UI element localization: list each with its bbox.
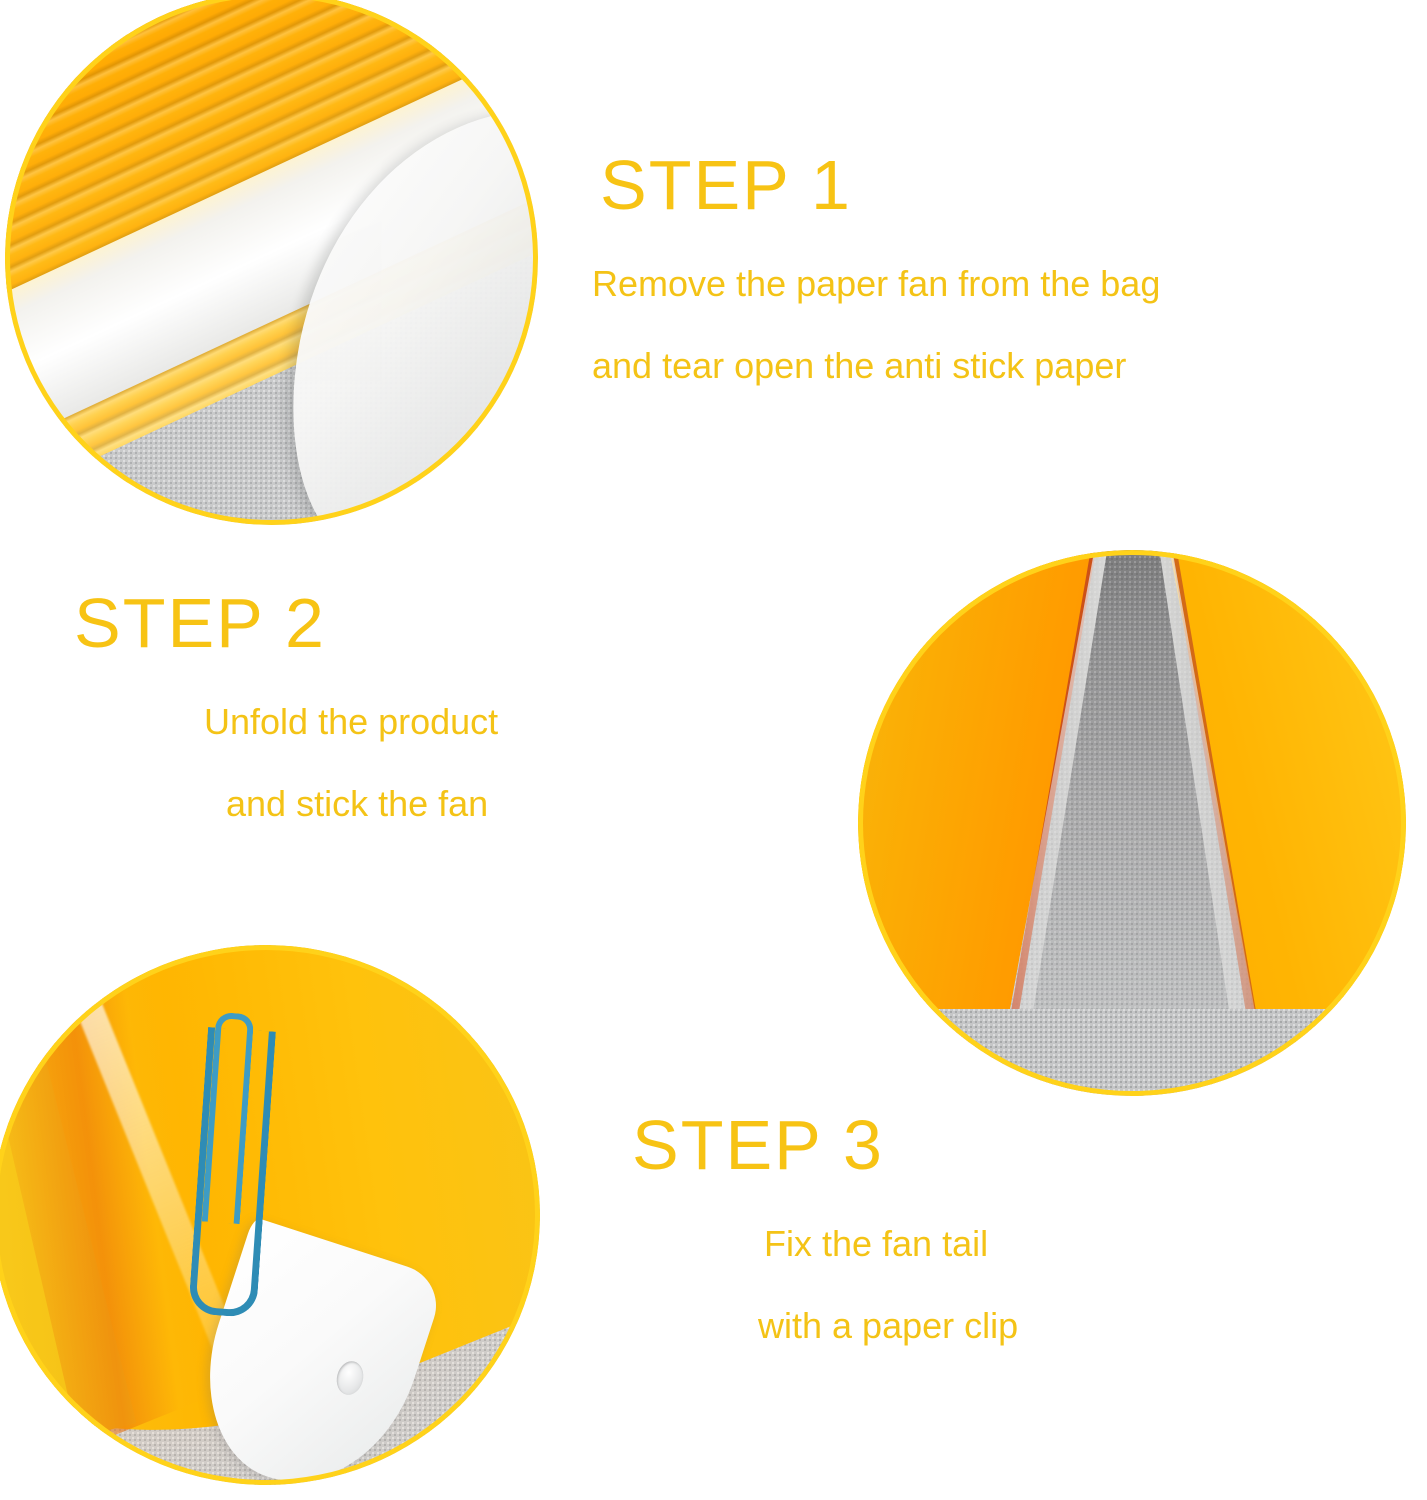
step-3-line-2: with a paper clip xyxy=(632,1308,1018,1344)
step-3-heading: STEP 3 xyxy=(632,1110,1018,1180)
step-2-line-1: Unfold the product xyxy=(74,704,498,740)
step-1-line-1: Remove the paper fan from the bag xyxy=(592,266,1160,302)
step-1-text-block: STEP 1 Remove the paper fan from the bag… xyxy=(592,150,1160,384)
step-2-photo-content xyxy=(0,945,540,1485)
step-1-photo-content xyxy=(5,0,538,525)
step-2-photo xyxy=(0,945,540,1485)
step-2-heading: STEP 2 xyxy=(74,588,498,658)
step-2-line-2: and stick the fan xyxy=(74,786,498,822)
step-1-heading: STEP 1 xyxy=(600,150,1160,220)
step-3-photo xyxy=(858,550,1406,1096)
step-3-photo-content xyxy=(858,550,1406,1096)
step-3-text-block: STEP 3 Fix the fan tail with a paper cli… xyxy=(632,1110,1018,1344)
instruction-graphic: STEP 1 Remove the paper fan from the bag… xyxy=(0,0,1427,1500)
step-2-text-block: STEP 2 Unfold the product and stick the … xyxy=(74,588,498,822)
step-3-line-1: Fix the fan tail xyxy=(632,1226,1018,1262)
step-1-photo xyxy=(5,0,538,525)
step-1-line-2: and tear open the anti stick paper xyxy=(592,348,1160,384)
textured-base-surface xyxy=(858,1009,1406,1096)
